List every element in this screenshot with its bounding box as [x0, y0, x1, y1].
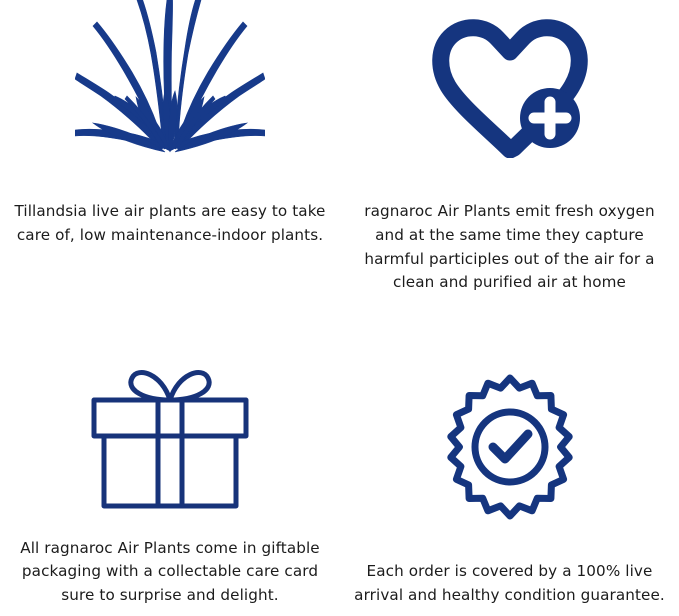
air-plant-icon-container — [0, 0, 340, 156]
giftable-packaging-description: All ragnaroc Air Plants come in giftable… — [0, 537, 340, 608]
heart-plus-icon — [430, 12, 590, 158]
feature-grid: Tillandsia live air plants are easy to t… — [0, 0, 679, 616]
feature-panel-air-plant: Tillandsia live air plants are easy to t… — [0, 0, 340, 308]
verified-badge-check-icon-container — [340, 374, 679, 524]
feature-panel-giftable-packaging: All ragnaroc Air Plants come in giftable… — [0, 308, 340, 616]
gift-box-icon-container — [0, 364, 340, 516]
guarantee-description: Each order is covered by a 100% live arr… — [340, 560, 679, 608]
air-plant-description: Tillandsia live air plants are easy to t… — [0, 200, 340, 248]
gift-box-icon — [90, 364, 250, 510]
feature-panel-air-quality: ragnaroc Air Plants emit fresh oxygen an… — [340, 0, 679, 308]
air-plant-icon — [75, 0, 265, 156]
heart-plus-icon-container — [340, 12, 679, 162]
air-quality-description: ragnaroc Air Plants emit fresh oxygen an… — [340, 200, 679, 295]
feature-panel-guarantee: Each order is covered by a 100% live arr… — [340, 308, 679, 616]
verified-badge-check-icon — [437, 374, 583, 520]
